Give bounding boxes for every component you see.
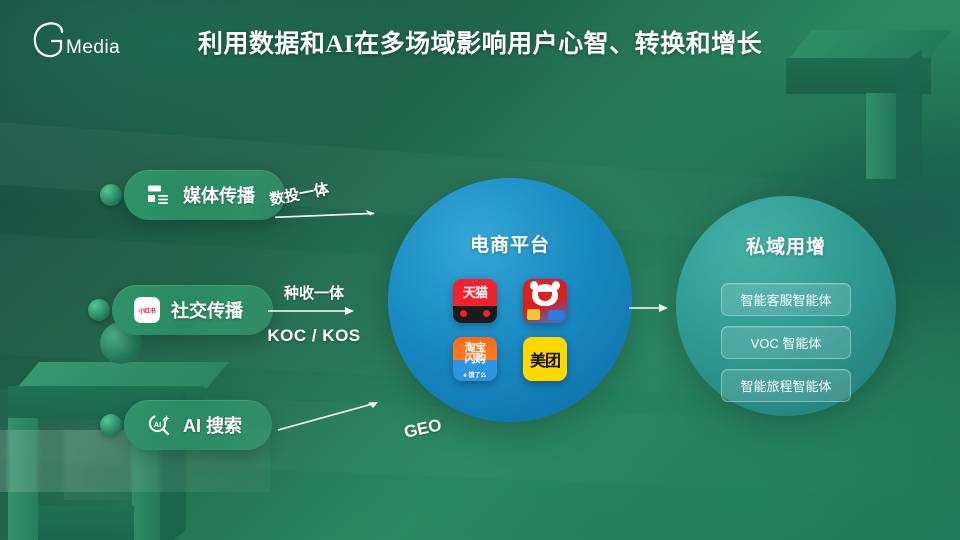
layout-grid-icon: [146, 182, 172, 208]
private-domain-bubble[interactable]: 私域用增 智能客服智能体 VOC 智能体 智能旅程智能体: [676, 196, 896, 416]
taobao-shangou-app-icon[interactable]: 淘宝 闪购 e 饿了么: [453, 337, 497, 381]
taobao-shangou-line2: 闪购: [453, 350, 497, 366]
decoration-arch-leg-side: [896, 49, 922, 189]
decoration-sphere: [88, 299, 110, 321]
channel-pill-label: 社交传播: [171, 297, 243, 323]
meituan-app-icon[interactable]: 美团: [523, 337, 567, 381]
channel-pill-label: AI 搜索: [183, 412, 242, 438]
taobao-shangou-line3: e 饿了么: [453, 370, 497, 379]
meituan-app-label: 美团: [523, 337, 567, 381]
ecommerce-app-grid: 天猫 淘宝 闪购 e 饿了么 美团: [453, 279, 567, 381]
jd-dog-ear-icon: [552, 281, 560, 290]
jd-dog-ear-icon: [530, 281, 538, 290]
decoration-arch-leg: [866, 93, 896, 179]
channel-pill-ai-search[interactable]: AI AI 搜索: [124, 400, 272, 450]
channel-pill-social[interactable]: 小红书 社交传播: [112, 285, 273, 335]
ecommerce-title: 电商平台: [470, 230, 550, 257]
channel-pill-media[interactable]: 媒体传播: [124, 170, 285, 220]
xiaohongshu-icon-label: 小红书: [139, 306, 156, 315]
jd-app-icon[interactable]: [523, 279, 567, 323]
ecommerce-platform-bubble[interactable]: 电商平台 天猫 淘宝 闪购 e 饿了么 美团: [388, 178, 632, 422]
private-domain-title: 私域用增: [746, 232, 826, 259]
decoration-sphere: [100, 414, 122, 436]
tmall-app-label: 天猫: [453, 282, 497, 301]
arrow-right-icon: [628, 300, 674, 316]
xiaohongshu-icon: 小红书: [134, 297, 160, 323]
connector-aisearch-to-ecommerce: GEO: [276, 398, 442, 439]
tmall-app-icon[interactable]: 天猫: [453, 279, 497, 323]
connector-label: 种收一体: [266, 282, 362, 303]
connector-social-to-ecommerce: 种收一体 KOC / KOS: [266, 282, 362, 346]
page-title: 利用数据和AI在多场域影响用户心智、转换和增长: [0, 24, 960, 60]
svg-text:AI: AI: [154, 420, 162, 429]
connector-sublabel: GEO: [403, 415, 444, 442]
arrow-right-icon: [266, 303, 362, 319]
slide-canvas: Media 利用数据和AI在多场域影响用户心智、转换和增长 媒体传播 小红书 社…: [0, 0, 960, 540]
channel-pill-label: 媒体传播: [183, 182, 255, 208]
private-domain-tag-list: 智能客服智能体 VOC 智能体 智能旅程智能体: [721, 283, 851, 402]
agent-tag[interactable]: VOC 智能体: [721, 326, 851, 359]
tmall-cat-face-icon: [453, 306, 497, 323]
decoration-sphere: [100, 184, 122, 206]
agent-tag[interactable]: 智能旅程智能体: [721, 369, 851, 402]
agent-tag[interactable]: 智能客服智能体: [721, 283, 851, 316]
arrow-up-right-icon: [276, 398, 386, 434]
jd-parcel-icon: [527, 309, 540, 320]
jd-tag-icon: [548, 310, 564, 320]
connector-sublabel: KOC / KOS: [266, 326, 362, 346]
ai-search-sparkle-icon: AI: [146, 412, 172, 438]
